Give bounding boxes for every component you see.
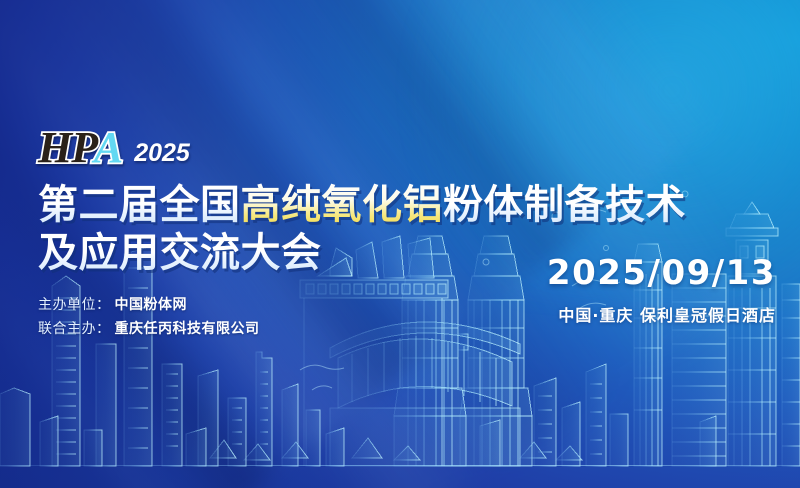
organizer-row-cohost: 联合主办： 重庆任丙科技有限公司 — [38, 317, 508, 342]
hpa-logo-letter-accent: A — [94, 123, 122, 172]
title-segment-highlight: 高纯氧化铝 — [241, 182, 444, 228]
banner-content-right: 2025/09/13 中国·重庆 保利皇冠假日酒店 — [476, 255, 776, 326]
page-title: 第二届全国高纯氧化铝粉体制备技术 及应用交流大会 — [38, 182, 508, 277]
title-segment-prefix: 第二届全国 — [38, 182, 241, 228]
organizer-row-host: 主办单位： 中国粉体网 — [38, 293, 508, 318]
organizer-label-host: 主办单位： — [38, 293, 111, 318]
title-segment-suffix: 粉体制备技术 — [443, 182, 686, 228]
organizer-list: 主办单位： 中国粉体网 联合主办： 重庆任丙科技有限公司 — [38, 293, 508, 342]
organizer-label-cohost: 联合主办： — [38, 317, 111, 342]
event-venue: 中国·重庆 保利皇冠假日酒店 — [476, 302, 776, 326]
hpa-logo-letters: HPA — [38, 126, 122, 170]
skyline-ground-line — [0, 465, 800, 466]
hpa-logo-year: 2025 — [134, 141, 190, 166]
organizer-value-cohost: 重庆任丙科技有限公司 — [115, 317, 260, 342]
title-segment-line2: 及应用交流大会 — [38, 230, 322, 276]
event-date: 2025/09/13 — [476, 255, 776, 292]
banner-content-left: HPA 2025 第二届全国高纯氧化铝粉体制备技术 及应用交流大会 主办单位： … — [38, 122, 508, 342]
page-title-line-1: 第二届全国高纯氧化铝粉体制备技术 — [38, 182, 508, 228]
hpa-logo: HPA 2025 — [38, 122, 508, 170]
conference-banner: HPA 2025 第二届全国高纯氧化铝粉体制备技术 及应用交流大会 主办单位： … — [0, 0, 800, 488]
organizer-value-host: 中国粉体网 — [115, 293, 188, 318]
hpa-logo-letters-dark: HP — [38, 123, 94, 172]
page-title-line-2: 及应用交流大会 — [38, 230, 508, 276]
